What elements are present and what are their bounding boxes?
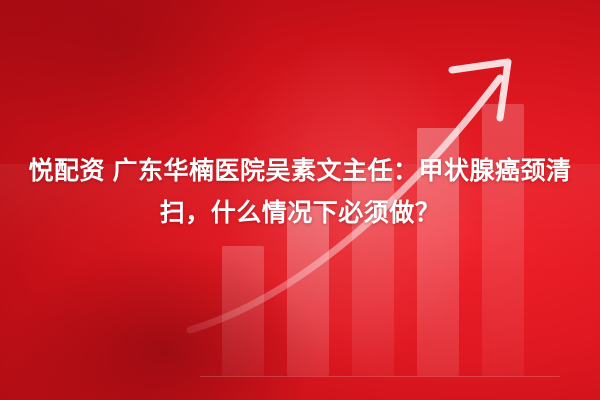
banner-image: 悦配资 广东华楠医院吴素文主任：甲状腺癌颈清 扫，什么情况下必须做？ (0, 0, 600, 400)
headline-line-2: 扫，什么情况下必须做？ (14, 192, 586, 234)
page-title: 悦配资 广东华楠医院吴素文主任：甲状腺癌颈清 扫，什么情况下必须做？ (0, 150, 600, 234)
headline-line-1: 悦配资 广东华楠医院吴素文主任：甲状腺癌颈清 (14, 150, 586, 192)
